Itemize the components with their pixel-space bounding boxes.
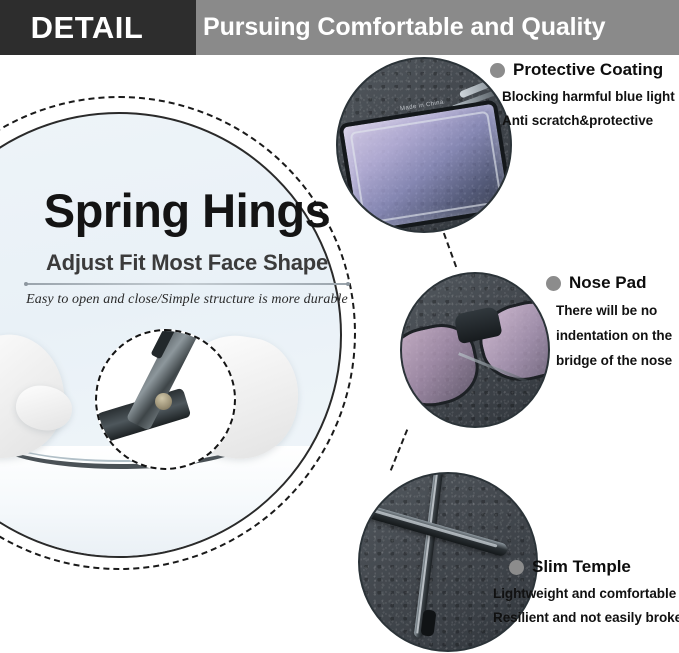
bullet-dot-icon	[509, 560, 524, 575]
hero-text-block: Spring Hings Adjust Fit Most Face Shape …	[22, 186, 352, 308]
product-detail-page: DETAIL Pursuing Comfortable and Quality …	[0, 0, 679, 653]
feature-block-slim-temple: Slim Temple Lightweight and comfortable …	[509, 557, 679, 625]
feature-photo-nose-pad	[400, 272, 550, 428]
feature-line: Anti scratch&protective	[502, 113, 675, 128]
bullet-dot-icon	[546, 276, 561, 291]
feature-lines-slim-temple: Lightweight and comfortable Resilient an…	[493, 586, 679, 625]
hero-divider	[26, 283, 348, 285]
coating-lens-inner-rim	[350, 111, 503, 225]
header-subtitle: Pursuing Comfortable and Quality	[203, 0, 605, 55]
feature-heading-slim-temple: Slim Temple	[509, 557, 679, 577]
hero-subtitle: Adjust Fit Most Face Shape	[22, 250, 352, 276]
feature-lines-nose-pad: There will be no indentation on the brid…	[556, 303, 672, 368]
feature-line: Lightweight and comfortable	[493, 586, 679, 601]
feature-block-protective-coating: Protective Coating Blocking harmful blue…	[490, 60, 675, 128]
dashed-connector	[443, 233, 457, 268]
feature-block-nose-pad: Nose Pad There will be no indentation on…	[546, 273, 672, 368]
hero-note: Easy to open and close/Simple structure …	[22, 292, 352, 308]
feature-title-nose-pad: Nose Pad	[569, 273, 646, 293]
feature-heading-nose-pad: Nose Pad	[546, 273, 672, 293]
hinge-closeup-inset	[95, 329, 236, 470]
feature-lines-protective-coating: Blocking harmful blue light Anti scratch…	[502, 89, 675, 128]
feature-line: There will be no	[556, 303, 672, 318]
coating-lens-frame	[338, 99, 512, 233]
header-bar: DETAIL Pursuing Comfortable and Quality	[0, 0, 679, 55]
dashed-connector	[390, 429, 408, 471]
feature-line: bridge of the nose	[556, 353, 672, 368]
hero-title: Spring Hings	[22, 186, 352, 237]
feature-heading-protective-coating: Protective Coating	[490, 60, 675, 80]
feature-photo-protective-coating: Made in China	[336, 57, 512, 233]
feature-line: indentation on the	[556, 328, 672, 343]
feature-title-slim-temple: Slim Temple	[532, 557, 631, 577]
feature-line: Resilient and not easily broken	[493, 610, 679, 625]
bullet-dot-icon	[490, 63, 505, 78]
feature-title-protective-coating: Protective Coating	[513, 60, 663, 80]
header-badge-label: DETAIL	[0, 0, 196, 55]
feature-line: Blocking harmful blue light	[502, 89, 675, 104]
